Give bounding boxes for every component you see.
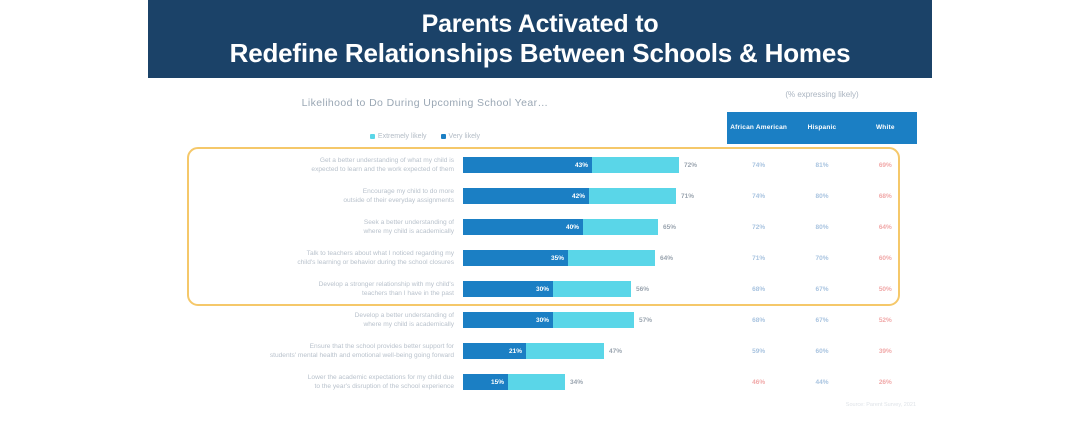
slide: Parents Activated to Redefine Relationsh… xyxy=(0,0,1080,437)
bar-segment-very-likely: 43% xyxy=(463,157,592,173)
bar-segment-very-likely: 15% xyxy=(463,374,508,390)
table-cell: 26% xyxy=(854,379,917,386)
table-cell: 39% xyxy=(854,348,917,355)
table-cell: 74% xyxy=(727,162,790,169)
row-label: Encourage my child to do moreoutside of … xyxy=(196,181,454,212)
bar-segment-extremely-likely xyxy=(589,188,676,204)
row-label: Get a better understanding of what my ch… xyxy=(196,150,454,181)
chart-row: Encourage my child to do moreoutside of … xyxy=(0,181,1080,212)
bar-segment-very-likely: 35% xyxy=(463,250,568,266)
bar-segment-value: 35% xyxy=(551,255,568,262)
bar-segment-very-likely: 30% xyxy=(463,281,553,297)
table-cell: 80% xyxy=(790,224,853,231)
row-label: Talk to teachers about what I noticed re… xyxy=(196,243,454,274)
chart-row: Develop a stronger relationship with my … xyxy=(0,274,1080,305)
legend-item-extremely-likely: Extremely likely xyxy=(370,133,427,140)
bar-track: 30%56% xyxy=(463,281,713,297)
table-cell: 70% xyxy=(790,255,853,262)
footnote: Source: Parent Survey, 2021 xyxy=(700,402,916,408)
page-title-line-2: Redefine Relationships Between Schools &… xyxy=(230,39,851,68)
chart-row: Get a better understanding of what my ch… xyxy=(0,150,1080,181)
bar-track: 42%71% xyxy=(463,188,713,204)
chart-heading: Likelihood to Do During Upcoming School … xyxy=(210,97,640,109)
bar-segment-value: 30% xyxy=(536,286,553,293)
table-cell: 67% xyxy=(790,317,853,324)
bar-segment-extremely-likely xyxy=(508,374,565,390)
bar-segment-extremely-likely xyxy=(583,219,658,235)
bar-total-value: 72% xyxy=(679,157,697,173)
table-row: 68%67%52% xyxy=(727,305,917,336)
bar-track: 40%65% xyxy=(463,219,713,235)
bar-segment-extremely-likely xyxy=(526,343,604,359)
chart-row: Talk to teachers about what I noticed re… xyxy=(0,243,1080,274)
legend-item-very-likely: Very likely xyxy=(441,133,481,140)
table-row: 68%67%50% xyxy=(727,274,917,305)
table-row: 71%70%60% xyxy=(727,243,917,274)
title-banner: Parents Activated to Redefine Relationsh… xyxy=(148,0,932,78)
table-header: African American Hispanic White xyxy=(727,112,917,144)
bar-segment-very-likely: 40% xyxy=(463,219,583,235)
table-cell: 81% xyxy=(790,162,853,169)
table-cell: 68% xyxy=(727,317,790,324)
chart-legend: Extremely likely Very likely xyxy=(210,133,640,140)
table-row: 74%80%68% xyxy=(727,181,917,212)
bar-total-value: 57% xyxy=(634,312,652,328)
bar-track: 21%47% xyxy=(463,343,713,359)
bar-total-value: 71% xyxy=(676,188,694,204)
bar-segment-extremely-likely xyxy=(553,281,631,297)
row-label: Lower the academic expectations for my c… xyxy=(196,367,454,398)
table-cell: 74% xyxy=(727,193,790,200)
bar-track: 35%64% xyxy=(463,250,713,266)
table-cell: 69% xyxy=(854,162,917,169)
table-cell: 60% xyxy=(790,348,853,355)
table-row: 59%60%39% xyxy=(727,336,917,367)
bar-track: 43%72% xyxy=(463,157,713,173)
row-label: Develop a stronger relationship with my … xyxy=(196,274,454,305)
table-cell: 60% xyxy=(854,255,917,262)
table-cell: 46% xyxy=(727,379,790,386)
bar-segment-value: 43% xyxy=(575,162,592,169)
bar-total-value: 34% xyxy=(565,374,583,390)
bar-segment-value: 21% xyxy=(509,348,526,355)
table-cell: 80% xyxy=(790,193,853,200)
bar-segment-value: 30% xyxy=(536,317,553,324)
legend-swatch-icon xyxy=(441,134,446,139)
bar-total-value: 65% xyxy=(658,219,676,235)
chart-rows: Get a better understanding of what my ch… xyxy=(0,150,1080,398)
bar-total-value: 47% xyxy=(604,343,622,359)
table-row: 46%44%26% xyxy=(727,367,917,398)
table-cell: 44% xyxy=(790,379,853,386)
column-header-hispanic: Hispanic xyxy=(790,124,853,132)
chart-row: Ensure that the school provides better s… xyxy=(0,336,1080,367)
column-header-african-american: African American xyxy=(727,124,790,132)
table-row: 72%80%64% xyxy=(727,212,917,243)
bar-segment-extremely-likely xyxy=(553,312,634,328)
table-cell: 72% xyxy=(727,224,790,231)
legend-label: Very likely xyxy=(449,133,481,140)
table-cell: 50% xyxy=(854,286,917,293)
row-label: Seek a better understanding ofwhere my c… xyxy=(196,212,454,243)
bar-segment-extremely-likely xyxy=(592,157,679,173)
table-cell: 68% xyxy=(727,286,790,293)
table-cell: 67% xyxy=(790,286,853,293)
bar-total-value: 64% xyxy=(655,250,673,266)
table-cell: 71% xyxy=(727,255,790,262)
table-cell: 68% xyxy=(854,193,917,200)
bar-segment-very-likely: 42% xyxy=(463,188,589,204)
row-label: Develop a better understanding ofwhere m… xyxy=(196,305,454,336)
bar-segment-very-likely: 30% xyxy=(463,312,553,328)
table-cell: 59% xyxy=(727,348,790,355)
chart-row: Lower the academic expectations for my c… xyxy=(0,367,1080,398)
bar-track: 30%57% xyxy=(463,312,713,328)
chart-row: Develop a better understanding ofwhere m… xyxy=(0,305,1080,336)
bar-segment-value: 42% xyxy=(572,193,589,200)
column-header-white: White xyxy=(854,124,917,132)
bar-segment-extremely-likely xyxy=(568,250,655,266)
bar-segment-very-likely: 21% xyxy=(463,343,526,359)
legend-label: Extremely likely xyxy=(378,133,427,140)
chart-row: Seek a better understanding ofwhere my c… xyxy=(0,212,1080,243)
legend-swatch-icon xyxy=(370,134,375,139)
bar-segment-value: 40% xyxy=(566,224,583,231)
bar-segment-value: 15% xyxy=(491,379,508,386)
page-title-line-1: Parents Activated to xyxy=(422,10,659,39)
table-cell: 52% xyxy=(854,317,917,324)
bar-total-value: 56% xyxy=(631,281,649,297)
table-caption: (% expressing likely) xyxy=(727,90,917,99)
table-row: 74%81%69% xyxy=(727,150,917,181)
table-cell: 64% xyxy=(854,224,917,231)
bar-track: 15%34% xyxy=(463,374,713,390)
row-label: Ensure that the school provides better s… xyxy=(196,336,454,367)
